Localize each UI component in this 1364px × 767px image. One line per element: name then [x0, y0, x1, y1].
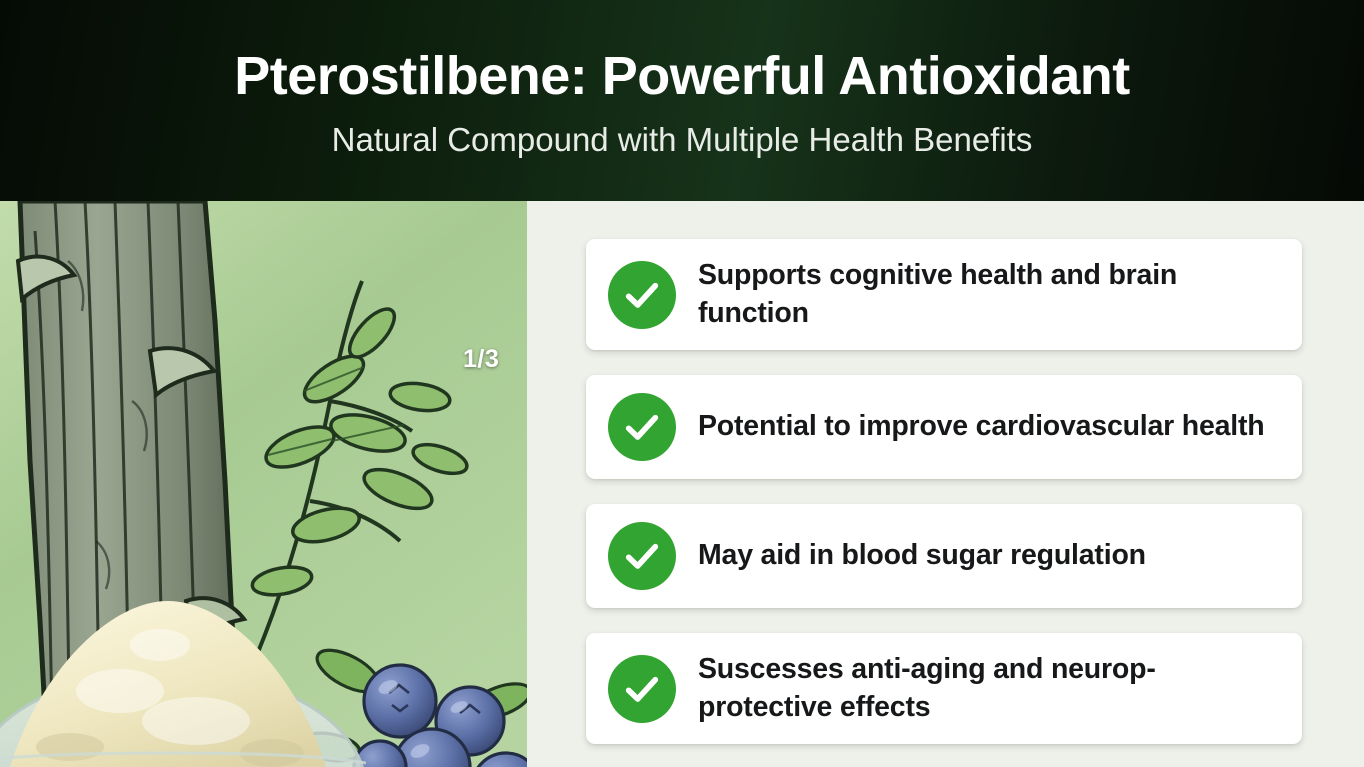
illustration-graphic — [0, 201, 527, 767]
illustration-panel: 1/3 — [0, 201, 527, 767]
slide-counter: 1/3 — [463, 345, 499, 374]
list-item: Potential to improve cardiovascular heal… — [586, 375, 1302, 479]
list-item: Suscesses anti-aging and neurop-protecti… — [586, 633, 1302, 744]
benefit-text: Supports cognitive health and brain func… — [698, 257, 1280, 332]
benefit-text: Suscesses anti-aging and neurop-protecti… — [698, 651, 1280, 726]
benefits-panel: Supports cognitive health and brain func… — [527, 201, 1364, 767]
check-icon — [608, 655, 676, 723]
slide: Pterostilbene: Powerful Antioxidant Natu… — [0, 0, 1364, 767]
check-icon — [608, 261, 676, 329]
check-icon — [608, 522, 676, 590]
page-subtitle: Natural Compound with Multiple Health Be… — [332, 121, 1033, 159]
list-item: Supports cognitive health and brain func… — [586, 239, 1302, 350]
benefit-text: May aid in blood sugar regulation — [698, 537, 1146, 575]
benefits-list: Supports cognitive health and brain func… — [586, 239, 1302, 744]
slide-header: Pterostilbene: Powerful Antioxidant Natu… — [0, 0, 1364, 201]
slide-body: 1/3 Supports cognitive health and brain … — [0, 201, 1364, 767]
page-title: Pterostilbene: Powerful Antioxidant — [234, 48, 1130, 105]
list-item: May aid in blood sugar regulation — [586, 504, 1302, 608]
check-icon — [608, 393, 676, 461]
benefit-text: Potential to improve cardiovascular heal… — [698, 408, 1265, 446]
